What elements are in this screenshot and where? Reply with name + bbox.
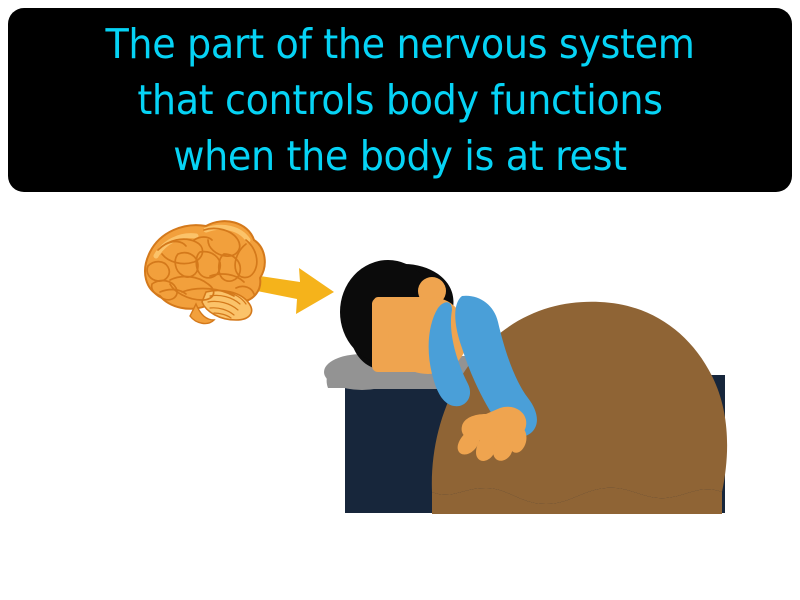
definition-card: The part of the nervous system that cont…	[0, 0, 800, 600]
arrow-icon	[257, 268, 334, 314]
scene-svg	[0, 192, 800, 600]
brain-icon	[145, 221, 265, 323]
illustration-area	[0, 192, 800, 600]
definition-text: The part of the nervous system that cont…	[42, 16, 758, 184]
definition-banner: The part of the nervous system that cont…	[8, 8, 792, 192]
